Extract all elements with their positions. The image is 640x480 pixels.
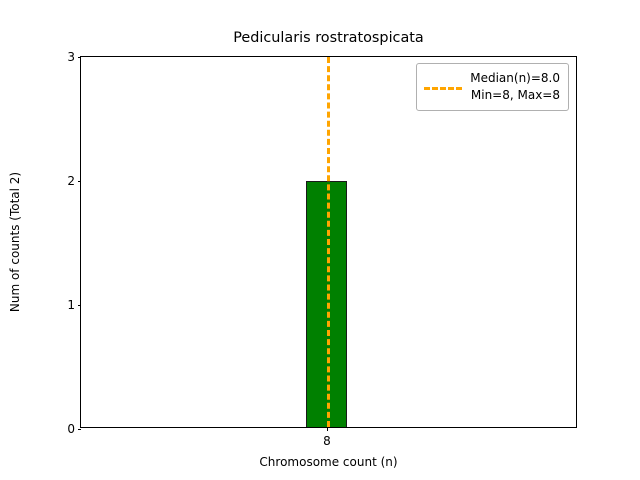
y-axis-label: Num of counts (Total 2) xyxy=(8,172,22,312)
plot-axes: 0 1 2 3 8 Median(n)=8.0 Min=8, Max=8 xyxy=(80,56,577,428)
y-tick-label-3: 3 xyxy=(67,50,75,64)
legend-minmax-text: Min=8, Max=8 xyxy=(471,87,560,104)
x-tick-mark-8 xyxy=(327,427,328,431)
y-tick-mark-0 xyxy=(78,429,82,430)
dashed-line-icon xyxy=(424,80,462,94)
chart-figure: Pedicularis rostratospicata Num of count… xyxy=(0,0,640,480)
y-axis-label-container: Num of counts (Total 2) xyxy=(0,56,30,428)
y-tick-label-1: 1 xyxy=(67,298,75,312)
plot-area xyxy=(81,57,576,427)
chart-legend: Median(n)=8.0 Min=8, Max=8 xyxy=(416,63,569,111)
y-tick-label-2: 2 xyxy=(67,174,75,188)
x-tick-label-8: 8 xyxy=(323,434,331,448)
chart-title: Pedicularis rostratospicata xyxy=(80,29,577,47)
y-tick-label-0: 0 xyxy=(67,422,75,436)
legend-entry-text: Median(n)=8.0 Min=8, Max=8 xyxy=(470,70,560,104)
legend-entry-median: Median(n)=8.0 Min=8, Max=8 xyxy=(424,70,560,104)
median-line xyxy=(327,57,330,427)
x-axis-label: Chromosome count (n) xyxy=(80,455,577,469)
legend-median-text: Median(n)=8.0 xyxy=(470,70,560,87)
